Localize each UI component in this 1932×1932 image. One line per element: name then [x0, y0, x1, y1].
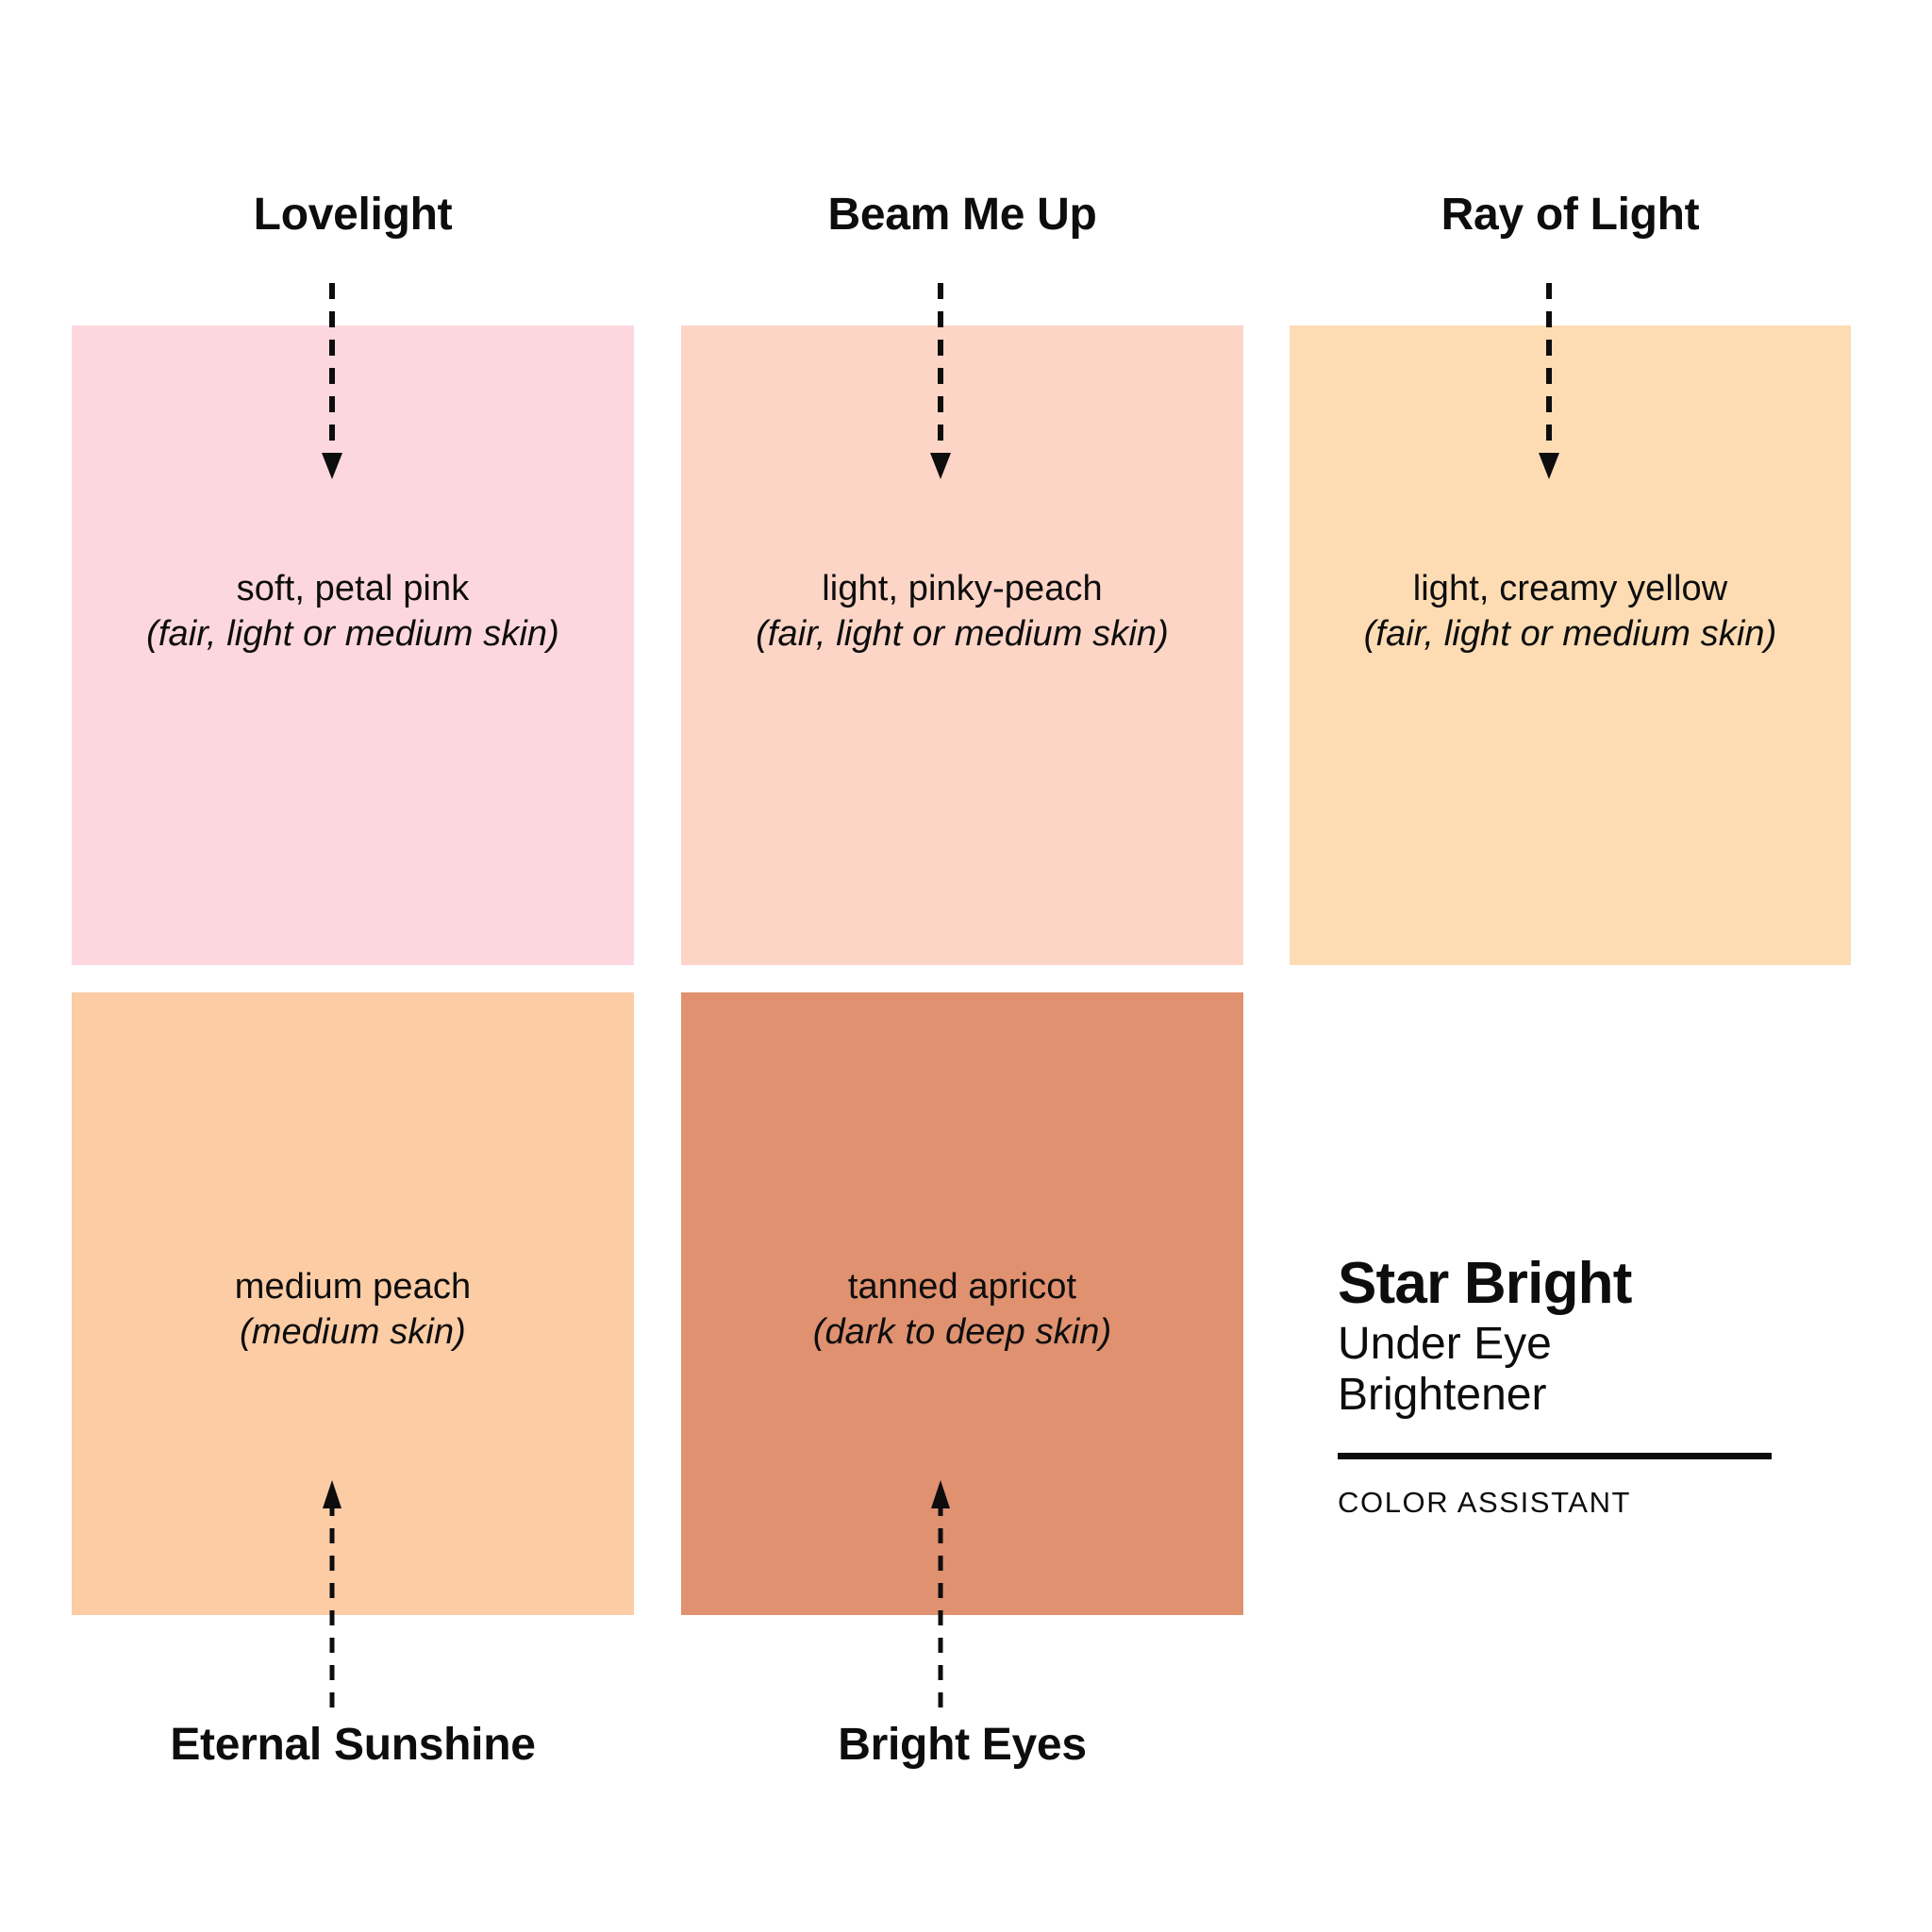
shade-name-eternal-sunshine: Eternal Sunshine — [72, 1719, 634, 1771]
shade-description-bright-eyes: tanned apricot (dark to deep skin) — [681, 1264, 1243, 1356]
product-subtitle-line-2: Brightener — [1338, 1370, 1781, 1421]
shade-description-ray-of-light: light, creamy yellow (fair, light or med… — [1290, 566, 1851, 658]
shade-tone-text: medium peach — [72, 1264, 634, 1309]
shade-skin-text: (fair, light or medium skin) — [681, 611, 1243, 657]
shade-description-lovelight: soft, petal pink (fair, light or medium … — [72, 566, 634, 658]
shade-skin-text: (medium skin) — [72, 1309, 634, 1355]
product-info-block: Star Bright Under Eye Brightener COLOR A… — [1338, 1255, 1781, 1520]
shade-description-beam-me-up: light, pinky-peach (fair, light or mediu… — [681, 566, 1243, 658]
product-subtitle-line-1: Under Eye — [1338, 1319, 1781, 1370]
shade-name-ray-of-light: Ray of Light — [1290, 189, 1851, 241]
shade-chart: Lovelight Beam Me Up Ray of Light Eterna… — [0, 0, 1932, 1932]
shade-tone-text: soft, petal pink — [72, 566, 634, 611]
shade-tone-text: tanned apricot — [681, 1264, 1243, 1309]
shade-skin-text: (fair, light or medium skin) — [72, 611, 634, 657]
product-title: Star Bright — [1338, 1255, 1781, 1313]
shade-tone-text: light, creamy yellow — [1290, 566, 1851, 611]
shade-tone-text: light, pinky-peach — [681, 566, 1243, 611]
shade-description-eternal-sunshine: medium peach (medium skin) — [72, 1264, 634, 1356]
shade-skin-text: (dark to deep skin) — [681, 1309, 1243, 1355]
divider-rule — [1338, 1453, 1772, 1459]
product-kicker: COLOR ASSISTANT — [1338, 1486, 1781, 1520]
shade-name-lovelight: Lovelight — [72, 189, 634, 241]
shade-name-bright-eyes: Bright Eyes — [681, 1719, 1243, 1771]
shade-skin-text: (fair, light or medium skin) — [1290, 611, 1851, 657]
shade-name-beam-me-up: Beam Me Up — [681, 189, 1243, 241]
